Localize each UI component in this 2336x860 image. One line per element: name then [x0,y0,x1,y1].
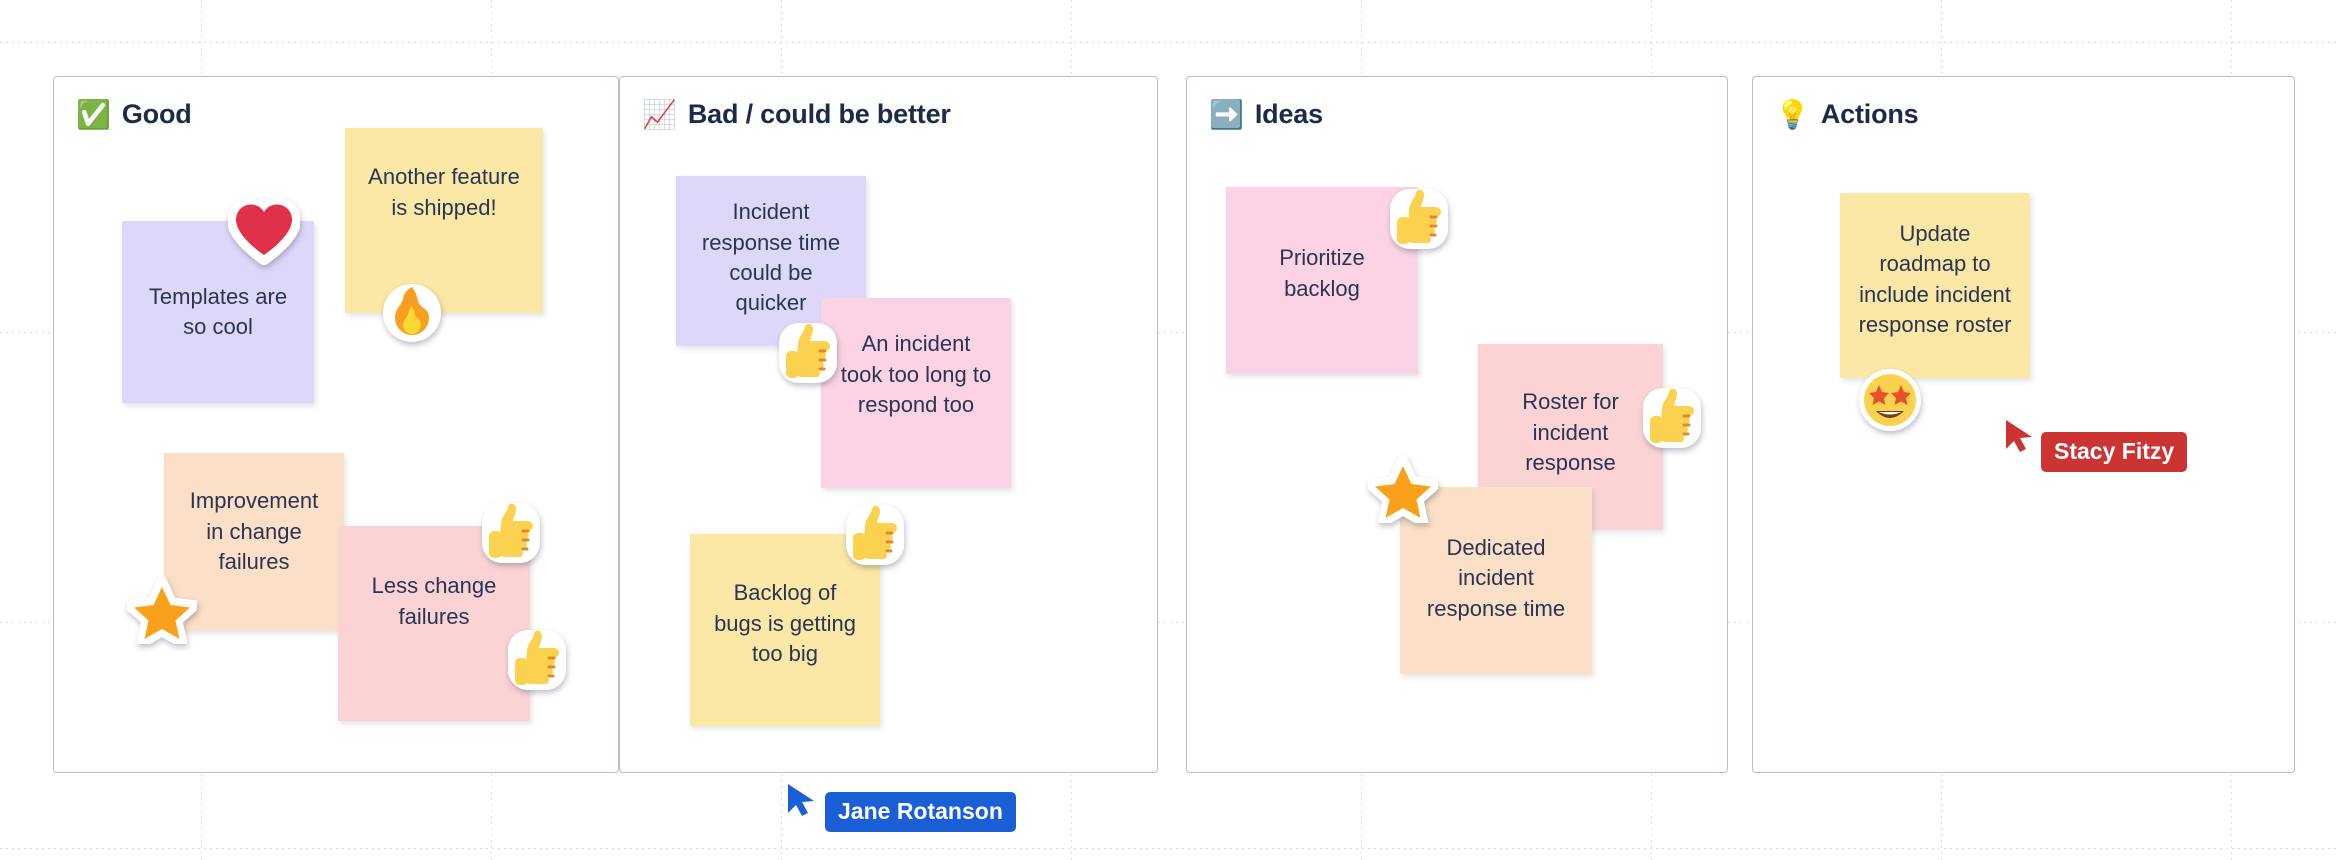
sticky-note[interactable]: Update roadmap to include incident respo… [1840,193,2030,378]
fire-sticker[interactable] [378,277,446,345]
grid-line-horizontal [0,42,2336,43]
column-good-title: Good [122,99,192,130]
cursor-pointer-icon [2003,418,2037,454]
note-line: Templates are [149,282,287,312]
column-ideas-title: Ideas [1255,99,1323,130]
note-line: Improvement [190,486,318,516]
note-line: Another feature [368,162,520,192]
note-line: incident [1522,418,1619,448]
note-line: failures [190,547,318,577]
note-line: respond too [841,390,991,420]
note-line: Less change [372,571,497,601]
column-actions-header: 💡 Actions [1775,99,1918,130]
heart-sticker[interactable] [228,197,300,265]
note-line: could be [702,258,840,288]
note-line: so cool [149,312,287,342]
note-line: response time [702,228,840,258]
column-ideas-header: ➡️ Ideas [1209,99,1323,130]
note-line: Update [1859,219,2012,249]
thumbs-up-sticker[interactable] [1387,184,1451,252]
thumbs-up-sticker[interactable] [776,318,840,386]
note-line: response roster [1859,310,2012,340]
note-line: incident [1427,563,1565,593]
note-line: roadmap to [1859,249,2012,279]
note-line: took too long to [841,360,991,390]
cursor-label: Stacy Fitzy [2041,432,2187,472]
star-sticker[interactable] [127,576,197,644]
star-sticker[interactable] [1368,455,1438,523]
note-line: too big [714,639,856,669]
cursor-pointer-icon [785,782,819,818]
note-line: include incident [1859,280,2012,310]
note-line: is shipped! [368,193,520,223]
note-line: quicker [702,288,840,318]
column-good-header: ✅ Good [76,99,192,130]
note-line: response [1522,448,1619,478]
sticky-note[interactable]: An incident took too long to respond too [821,298,1011,488]
thumbs-up-sticker[interactable] [479,498,543,566]
note-line: in change [190,517,318,547]
note-line: response time [1427,594,1565,624]
note-line: bugs is getting [714,609,856,639]
right-arrow-icon: ➡️ [1209,101,1244,129]
note-line: Roster for [1522,387,1619,417]
thumbs-up-sticker[interactable] [1640,383,1704,451]
grid-line-horizontal [0,848,2336,849]
white-check-mark-icon: ✅ [76,101,111,129]
thumbs-up-sticker[interactable] [505,625,569,693]
column-bad-header: 📈 Bad / could be better [642,99,951,130]
note-line: Backlog of [714,578,856,608]
light-bulb-icon: 💡 [1775,101,1810,129]
cursor-stacy-fitzy: Stacy Fitzy [2003,418,2187,472]
note-line: Prioritize [1279,243,1365,273]
note-line: Dedicated [1427,533,1565,563]
column-bad-title: Bad / could be better [688,99,951,130]
note-line: Incident [702,197,840,227]
chart-increasing-icon: 📈 [642,101,677,129]
thumbs-up-sticker[interactable] [843,500,907,568]
note-line: An incident [841,329,991,359]
note-line: failures [372,602,497,632]
note-line: backlog [1279,274,1365,304]
column-actions-title: Actions [1821,99,1919,130]
star-struck-sticker[interactable] [1855,365,1925,435]
cursor-label: Jane Rotanson [825,792,1016,832]
cursor-jane-rotanson: Jane Rotanson [785,782,1016,832]
